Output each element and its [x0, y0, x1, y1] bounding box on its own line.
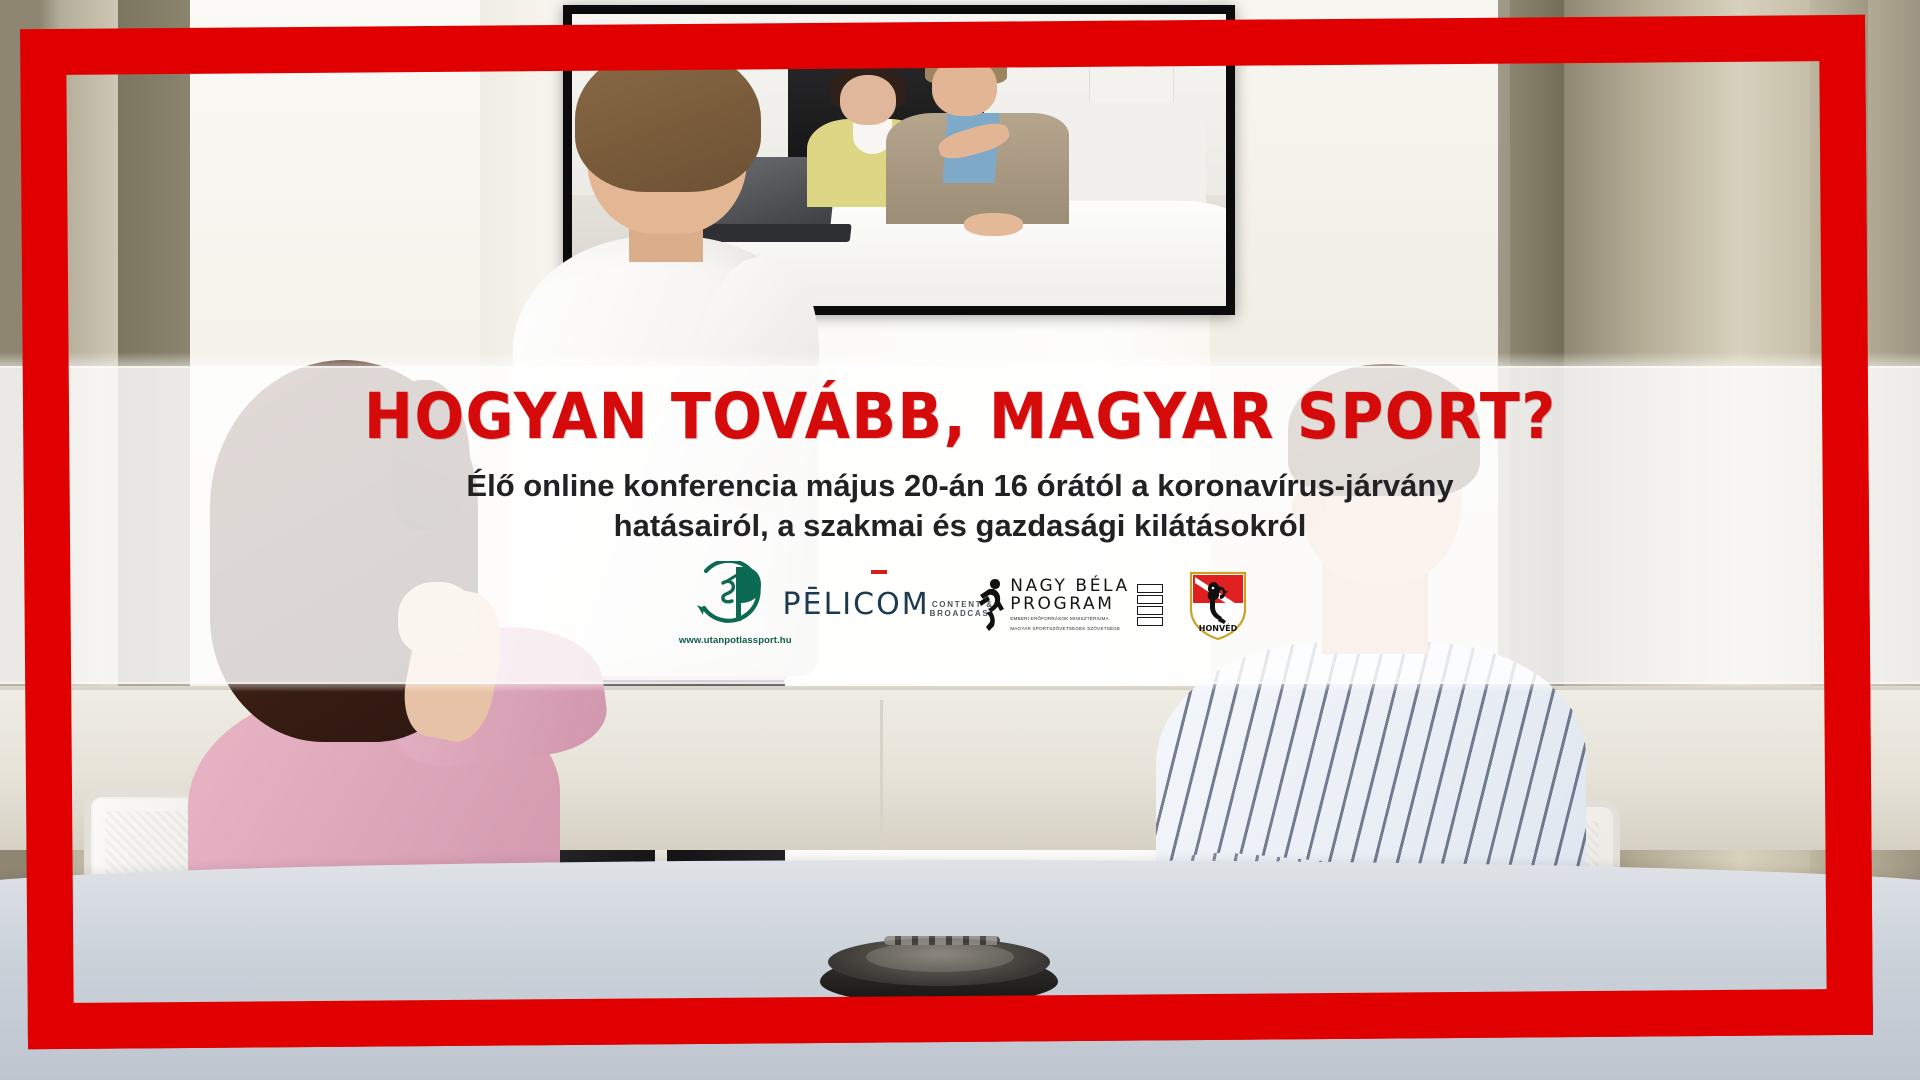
poster-canvas: HOGYAN TOVÁBB, MAGYAR SPORT? Élő online …: [0, 0, 1920, 1080]
red-border-frame-thick: [20, 15, 1873, 1049]
